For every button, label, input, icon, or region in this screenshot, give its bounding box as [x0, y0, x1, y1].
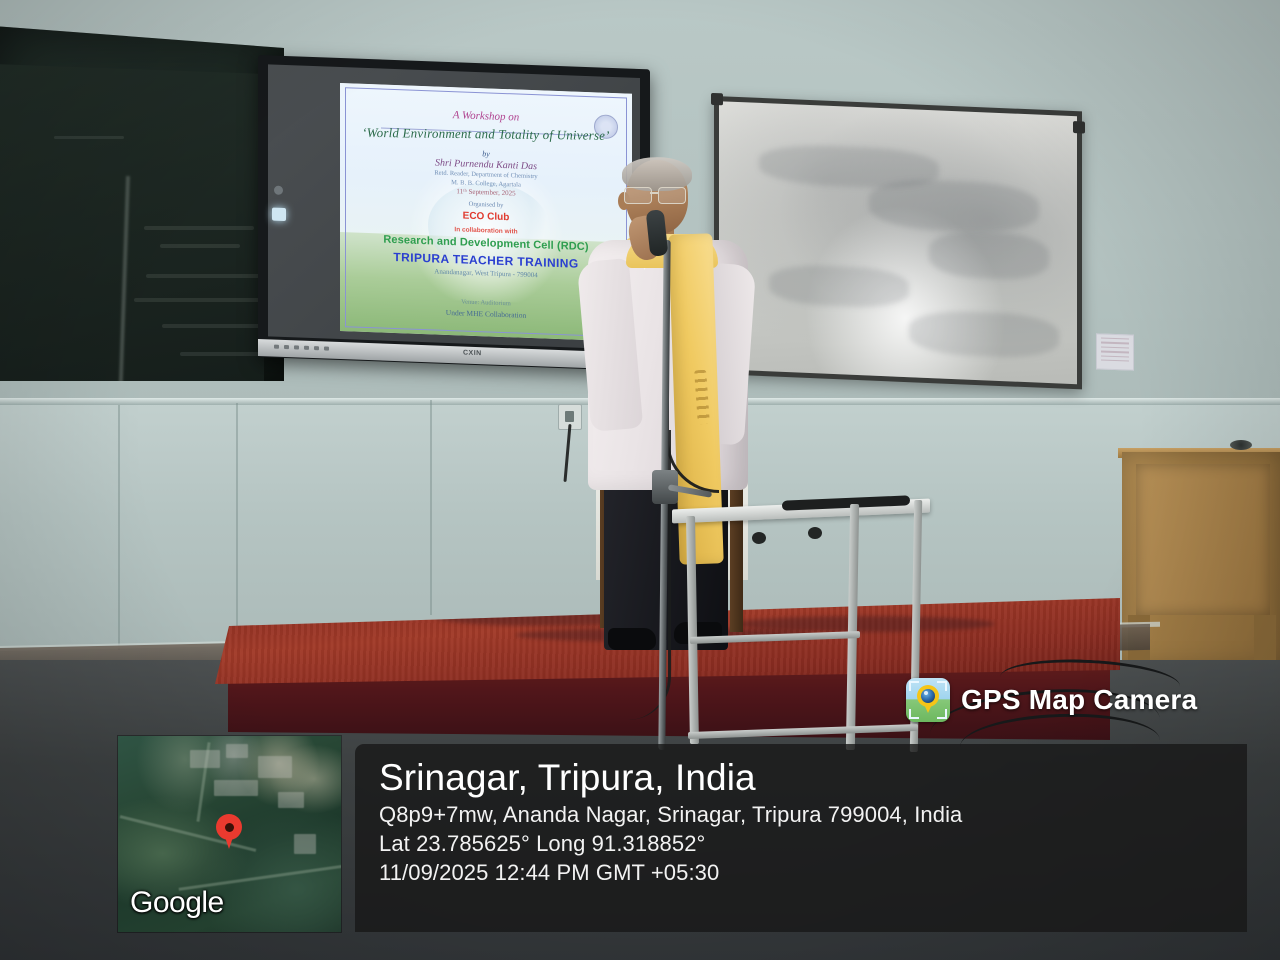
location-city-text: Srinagar, Tripura, India: [379, 758, 1247, 798]
location-info-panel: Srinagar, Tripura, India Q8p9+7mw, Anand…: [355, 744, 1247, 932]
cabinet-object: [1230, 440, 1252, 450]
photo-canvas: A Workshop on ‘World Environment and Tot…: [0, 0, 1280, 960]
location-coords-text: Lat 23.785625° Long 91.318852°: [379, 829, 1247, 858]
chalk-mark: [160, 244, 240, 248]
blackboard-surface: [0, 64, 264, 409]
table-knob[interactable]: [752, 532, 766, 544]
google-watermark: Google: [130, 886, 224, 920]
chalk-mark: [54, 136, 124, 139]
map-thumbnail[interactable]: Google: [118, 736, 341, 932]
status-led-icon: [272, 208, 286, 222]
power-button-icon[interactable]: [274, 186, 283, 195]
wall-seam: [118, 405, 120, 650]
chalk-mark: [146, 274, 276, 278]
map-building: [214, 780, 258, 796]
map-building: [294, 834, 316, 854]
chalk-mark: [144, 226, 254, 230]
table-knob[interactable]: [808, 527, 822, 539]
whiteboard-surface: [719, 101, 1077, 384]
map-building: [278, 792, 304, 808]
gps-camera-pin-icon: [906, 678, 950, 722]
map-building: [226, 744, 248, 758]
gps-app-name-label: GPS Map Camera: [961, 684, 1197, 716]
cabinet-panel: [1136, 464, 1270, 615]
eyeglasses-icon: [624, 187, 690, 203]
wall-notice-paper: [1096, 333, 1134, 370]
chalk-mark: [180, 352, 270, 356]
hair: [622, 157, 692, 191]
chalk-mark: [162, 324, 262, 328]
wall-seam: [430, 400, 432, 615]
whiteboard-corner: [1073, 121, 1085, 134]
wall-seam: [236, 403, 238, 643]
location-datetime-text: 11/09/2025 12:44 PM GMT +05:30: [379, 858, 1247, 887]
whiteboard: [714, 96, 1082, 389]
blackboard: [0, 26, 284, 381]
map-building: [258, 756, 292, 778]
location-address-text: Q8p9+7mw, Ananda Nagar, Srinagar, Tripur…: [379, 800, 1247, 829]
map-building: [190, 750, 220, 768]
whiteboard-corner: [711, 93, 723, 106]
display-brand-label: CXIN: [463, 350, 482, 358]
gps-map-camera-badge: GPS Map Camera: [906, 678, 1197, 722]
map-pin-icon: [216, 814, 242, 848]
microphone-cable: [666, 250, 719, 493]
